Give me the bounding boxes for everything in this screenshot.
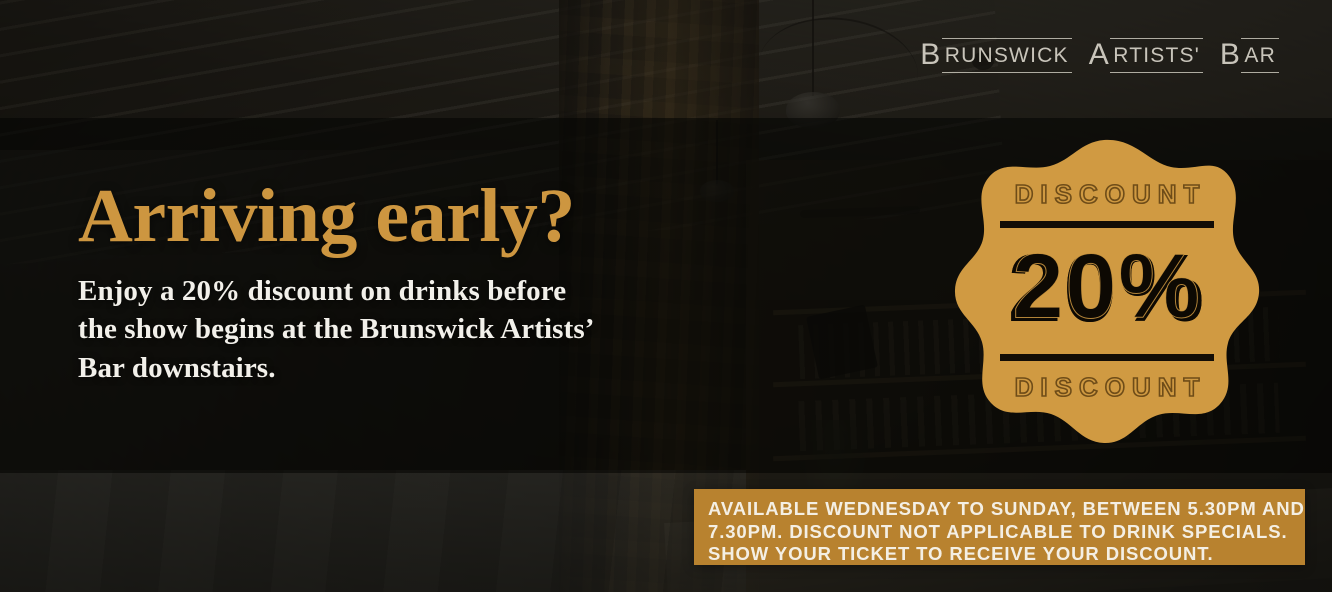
logo-initial: B: [920, 38, 942, 72]
terms-bar: AVAILABLE WEDNESDAY TO SUNDAY, BETWEEN 5…: [694, 489, 1305, 565]
logo-initial: A: [1089, 38, 1111, 72]
copy-block: Arriving early? Enjoy a 20% discount on …: [78, 178, 778, 387]
badge-rule-top: [1000, 221, 1214, 228]
logo-word-text: RUNSWICK: [942, 38, 1072, 73]
logo-initial: B: [1220, 38, 1242, 72]
terms-line-1: AVAILABLE WEDNESDAY TO SUNDAY, BETWEEN 5…: [708, 498, 1291, 521]
terms-line-2: 7.30PM. DISCOUNT NOT APPLICABLE TO DRINK…: [708, 521, 1291, 544]
subcopy: Enjoy a 20% discount on drinks before th…: [78, 272, 778, 387]
badge-content: DISCOUNT 20% DISCOUNT: [952, 136, 1262, 446]
headline: Arriving early?: [78, 178, 778, 254]
discount-badge: DISCOUNT 20% DISCOUNT: [952, 136, 1262, 446]
badge-label-bottom: DISCOUNT: [1008, 372, 1207, 403]
terms-line-3: SHOW YOUR TICKET TO RECEIVE YOUR DISCOUN…: [708, 543, 1291, 566]
badge-rule-bottom: [1000, 354, 1214, 361]
logo-word-artists: A RTISTS': [1089, 36, 1210, 73]
badge-value: 20%: [1008, 239, 1206, 343]
subcopy-line-3: Bar downstairs.: [78, 349, 778, 387]
promo-banner: B RUNSWICK A RTISTS' B AR Arriving early…: [0, 0, 1332, 592]
logo-word-brunswick: B RUNSWICK: [920, 36, 1078, 73]
venue-logo: B RUNSWICK A RTISTS' B AR: [920, 36, 1286, 73]
badge-label-top: DISCOUNT: [1008, 179, 1207, 210]
logo-word-text: RTISTS': [1110, 38, 1203, 73]
logo-word-text: AR: [1241, 38, 1279, 73]
subcopy-line-2: the show begins at the Brunswick Artists…: [78, 310, 778, 348]
logo-word-bar: B AR: [1220, 36, 1286, 73]
subcopy-line-1: Enjoy a 20% discount on drinks before: [78, 272, 778, 310]
